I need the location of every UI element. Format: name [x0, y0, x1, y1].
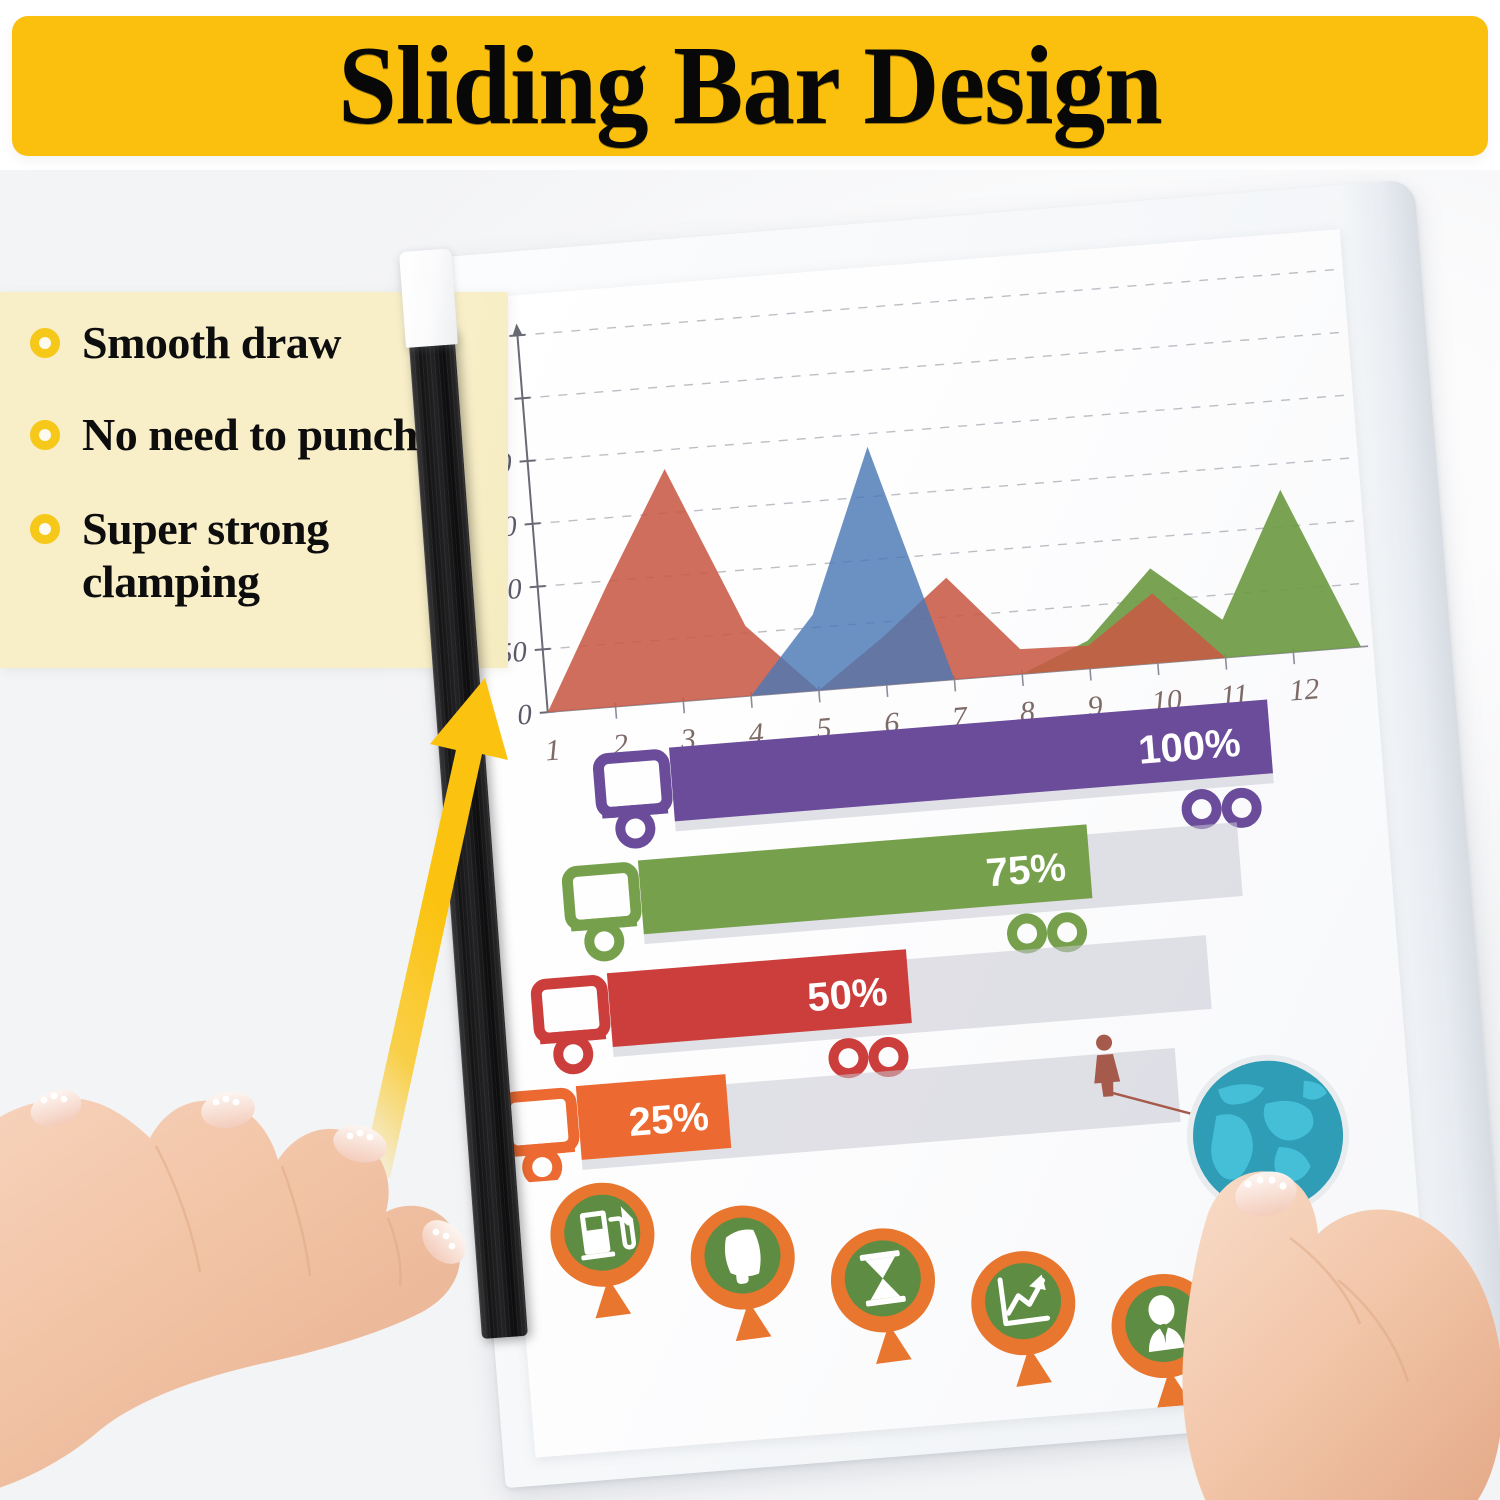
progress-label: 25%: [627, 1095, 710, 1145]
page-title: Sliding Bar Design: [338, 30, 1162, 142]
bullet-ring-icon: [30, 328, 60, 358]
header-banner: Sliding Bar Design: [12, 16, 1488, 156]
bullet-ring-icon: [30, 514, 60, 544]
truck-wheel: [1011, 917, 1043, 949]
feature-label: Smooth draw: [82, 316, 341, 369]
product-image: 300 250 200 150 100 50 0: [0, 0, 1500, 1500]
feature-label: No need to punch: [82, 408, 418, 461]
truck-icon: [567, 867, 637, 926]
left-hand: [0, 960, 480, 1500]
progress-label: 75%: [984, 845, 1067, 895]
right-hand: [1170, 1110, 1500, 1500]
progress-label: 50%: [806, 970, 889, 1020]
truck-wheel: [832, 1042, 864, 1074]
area-chart: 300 250 200 150 100 50 0: [442, 229, 1377, 770]
truck-wheel: [1185, 793, 1217, 825]
progress-label: 100%: [1137, 721, 1243, 773]
hand-shape: [1182, 1166, 1500, 1500]
hand-shape: [0, 1084, 474, 1498]
truck-icon: [598, 754, 668, 813]
sliding-bar-tip: [399, 248, 458, 348]
truck-wheel: [1051, 916, 1083, 948]
truck-wheel: [588, 925, 620, 957]
pin-fuel-pump: [544, 1176, 665, 1323]
person-icon: [1090, 1034, 1121, 1098]
bullet-ring-icon: [30, 420, 60, 450]
pin-growth-chart: [965, 1245, 1086, 1392]
pin-hourglass: [825, 1222, 946, 1369]
truck-wheel: [1226, 792, 1258, 824]
truck-wheel: [872, 1041, 904, 1073]
truck-wheel: [619, 812, 651, 844]
pin-megaphone: [684, 1199, 805, 1346]
